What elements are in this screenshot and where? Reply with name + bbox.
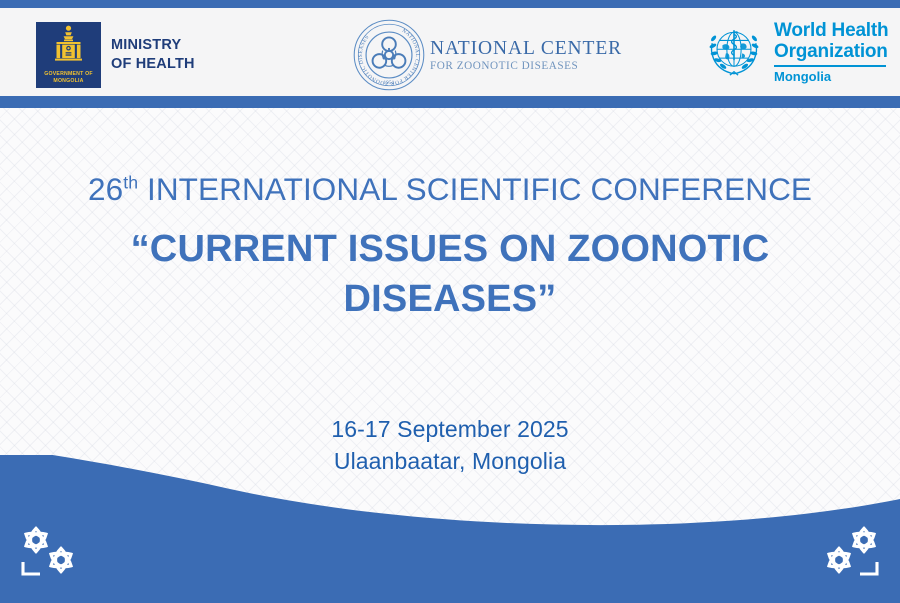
triquetra-knot-ornament-right — [812, 522, 884, 580]
title-block: 26th INTERNATIONAL SCIENTIFIC CONFERENCE… — [0, 170, 900, 324]
mongolia-state-emblem-soyombo: GOVERNMENT OF MONGOLIA — [36, 22, 101, 88]
header-separator-bar — [0, 96, 900, 108]
conference-number: 26 — [88, 171, 123, 207]
who-name-line1: World Health — [774, 20, 888, 41]
ministry-of-health-logo: GOVERNMENT OF MONGOLIA MINISTRY OF HEALT… — [36, 22, 195, 88]
footer-wave-band — [0, 455, 900, 603]
conference-ordinal: th — [123, 173, 138, 193]
wave-blue-layer — [0, 455, 900, 603]
conference-title: 26th INTERNATIONAL SCIENTIFIC CONFERENCE — [0, 170, 900, 208]
event-dates: 16-17 September 2025 — [0, 413, 900, 445]
ministry-of-health-name: MINISTRY OF HEALTH — [111, 36, 195, 74]
biohazard-seal-icon: NATIONAL CENTER FOR ZOONOTIC DISEASES 19… — [352, 18, 426, 92]
who-logo: World Health Organization Mongolia — [700, 18, 888, 86]
conference-title-slide: GOVERNMENT OF MONGOLIA MINISTRY OF HEALT… — [0, 0, 900, 603]
who-globe-laurel-asclepius-icon — [700, 18, 768, 86]
conference-theme: “CURRENT ISSUES ON ZOONOTIC DISEASES” — [0, 224, 900, 324]
who-country-label: Mongolia — [774, 69, 888, 84]
nczd-name-line1: NATIONAL CENTER — [430, 38, 622, 59]
top-accent-bar — [0, 0, 900, 8]
triquetra-knot-ornament-left — [16, 522, 88, 580]
emblem-caption: GOVERNMENT OF MONGOLIA — [36, 71, 101, 85]
nczd-name: NATIONAL CENTER FOR ZOONOTIC DISEASES — [430, 38, 622, 73]
soyombo-icon — [36, 24, 101, 66]
nczd-logo: NATIONAL CENTER FOR ZOONOTIC DISEASES 19… — [352, 18, 622, 92]
who-name-line2: Organization — [774, 41, 888, 62]
svg-text:1951: 1951 — [384, 81, 395, 86]
conference-title-text: INTERNATIONAL SCIENTIFIC CONFERENCE — [138, 171, 812, 207]
who-divider-rule — [774, 65, 886, 67]
nczd-name-line2: FOR ZOONOTIC DISEASES — [430, 59, 622, 73]
who-name-block: World Health Organization Mongolia — [774, 20, 888, 84]
